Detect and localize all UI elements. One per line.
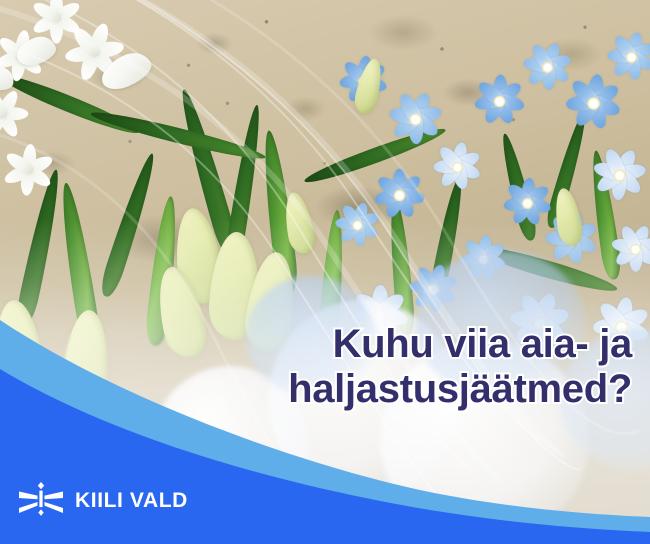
- blue-flower: [430, 140, 484, 194]
- hyacinth-floret: [0, 142, 56, 198]
- blurred-blue-bloom: [246, 276, 376, 396]
- logo[interactable]: KIILI VALD: [18, 481, 188, 519]
- background-photo: [0, 0, 650, 544]
- logo-text: KIILI VALD: [75, 490, 188, 511]
- blue-flower: [604, 30, 650, 84]
- blue-flower: [471, 73, 528, 130]
- dragonfly-icon: [18, 481, 64, 519]
- banner: Kuhu viia aia- ja haljastusjäätmed?: [0, 0, 650, 544]
- blue-flower: [332, 200, 382, 250]
- blue-flower: [608, 222, 650, 276]
- blurred-blue-bloom: [416, 250, 586, 400]
- blue-flower: [589, 145, 648, 204]
- white-hyacinth-cluster: [0, 0, 204, 232]
- hyacinth-floret: [0, 86, 30, 142]
